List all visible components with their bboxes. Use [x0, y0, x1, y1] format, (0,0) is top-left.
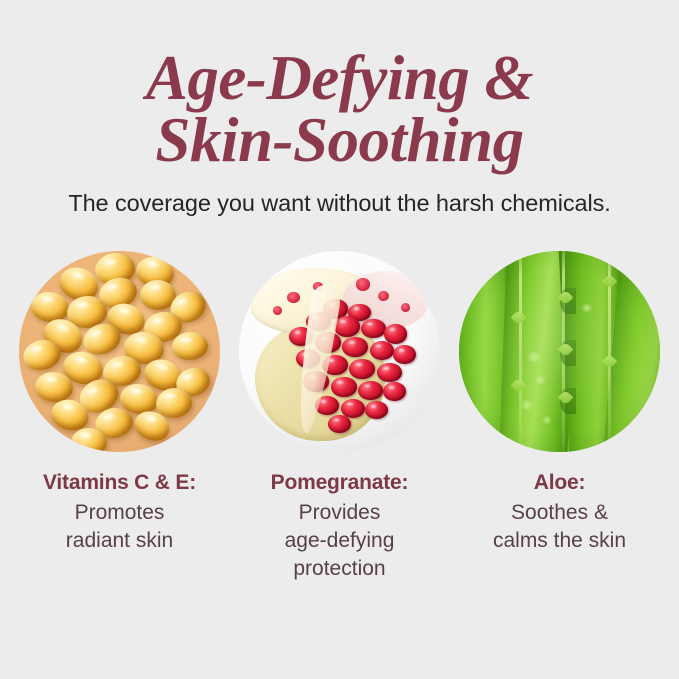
ingredient-description-vitamins: Promotes radiant skin	[12, 499, 227, 554]
ingredient-caption-aloe: Aloe: Soothes & calms the skin	[452, 470, 667, 554]
subtitle: The coverage you want without the harsh …	[0, 190, 679, 217]
headline: Age-Defying & Skin-Soothing	[0, 48, 679, 171]
capsule-cluster	[19, 251, 220, 452]
headline-line-1: Age-Defying &	[0, 48, 679, 110]
aloe-shading-overlay	[459, 251, 660, 452]
ingredient-title-pomegranate: Pomegranate:	[232, 470, 447, 497]
ingredient-description-pomegranate: Provides age-defying protection	[232, 499, 447, 582]
ingredient-caption-vitamins: Vitamins C & E: Promotes radiant skin	[12, 470, 227, 554]
pomegranate-fruit	[251, 268, 432, 445]
ingredient-item-aloe: Aloe: Soothes & calms the skin	[459, 251, 660, 582]
ingredient-benefits-infographic: Age-Defying & Skin-Soothing The coverage…	[0, 0, 679, 679]
ingredient-list: Vitamins C & E: Promotes radiant skin	[0, 251, 679, 582]
aloe-vera-leaves-photo	[459, 251, 660, 452]
ingredient-item-vitamins: Vitamins C & E: Promotes radiant skin	[19, 251, 220, 582]
ingredient-title-vitamins: Vitamins C & E:	[12, 470, 227, 497]
headline-line-2: Skin-Soothing	[0, 110, 679, 172]
vitamin-softgel-capsules-photo	[19, 251, 220, 452]
ingredient-title-aloe: Aloe:	[452, 470, 667, 497]
ingredient-item-pomegranate: Pomegranate: Provides age-defying protec…	[239, 251, 440, 582]
pomegranate-photo	[239, 251, 440, 452]
ingredient-description-aloe: Soothes & calms the skin	[452, 499, 667, 554]
ingredient-caption-pomegranate: Pomegranate: Provides age-defying protec…	[232, 470, 447, 582]
